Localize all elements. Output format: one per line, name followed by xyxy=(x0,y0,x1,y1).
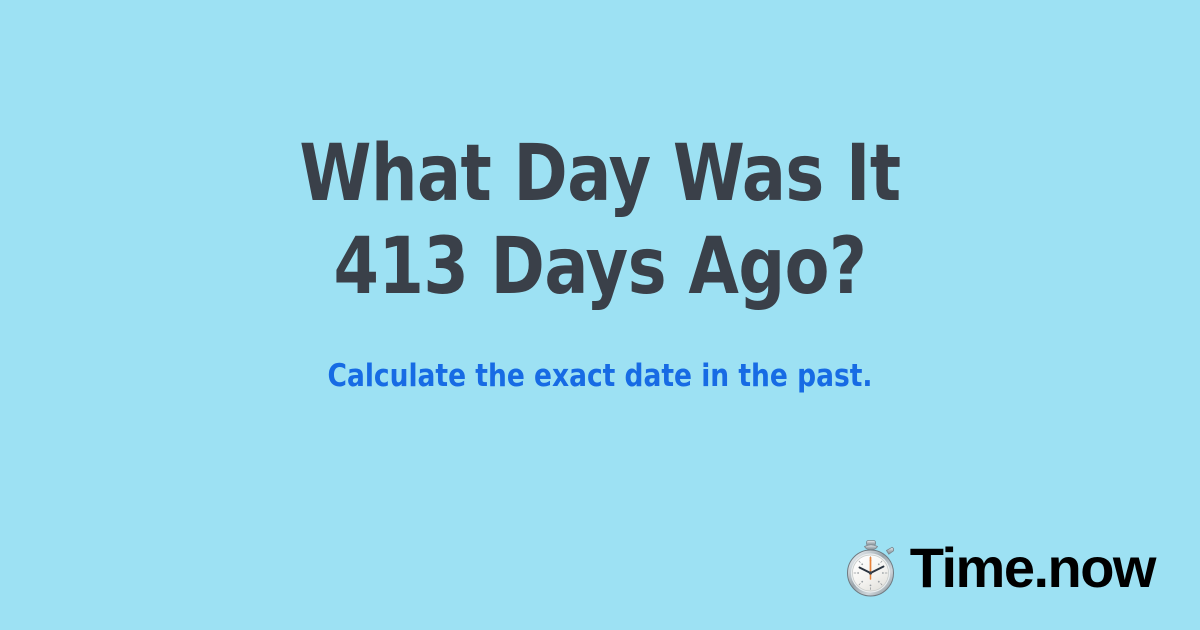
subtitle: Calculate the exact date in the past. xyxy=(30,358,1170,394)
stopwatch-icon xyxy=(844,539,898,597)
brand-name: Time.now xyxy=(910,540,1155,596)
brand-logo[interactable]: Time.now xyxy=(844,539,1155,597)
og-card: What Day Was It 413 Days Ago? Calculate … xyxy=(0,0,1200,630)
headline-line-1: What Day Was It xyxy=(42,128,1158,221)
page-title: What Day Was It 413 Days Ago? xyxy=(42,128,1158,314)
headline-line-2: 413 Days Ago? xyxy=(42,221,1158,314)
hero-section: What Day Was It 413 Days Ago? Calculate … xyxy=(0,128,1200,394)
